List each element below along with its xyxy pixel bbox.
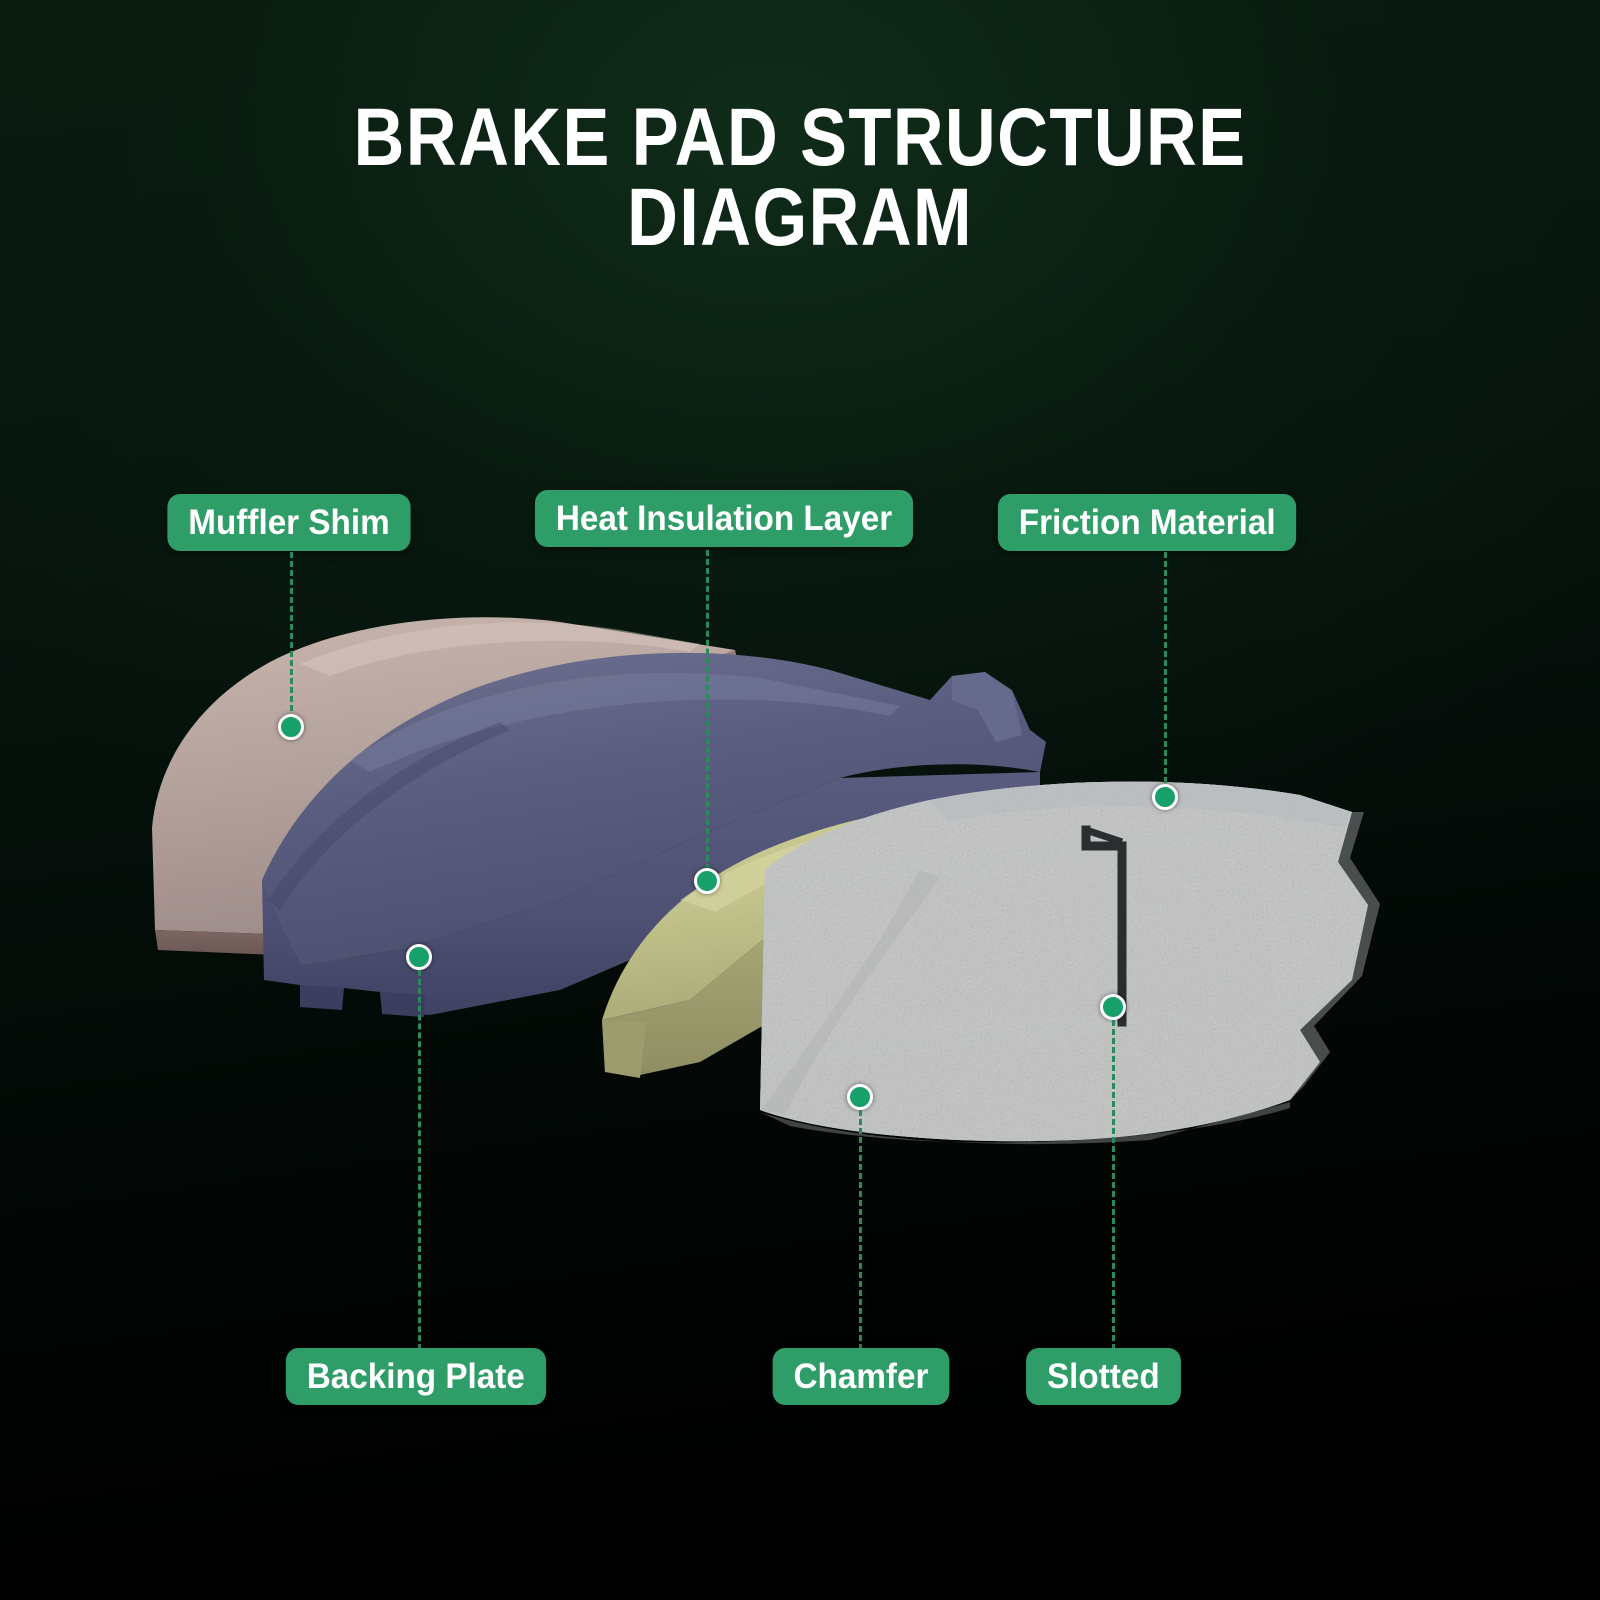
callout-label-muffler-shim[interactable]: Muffler Shim [167, 494, 410, 551]
page-title-line-1: BRAKE PAD STRUCTURE [112, 98, 1488, 178]
callout-dot-backing-plate[interactable] [406, 944, 432, 970]
callout-dot-chamfer[interactable] [847, 1084, 873, 1110]
layer-friction-material [740, 780, 1400, 1160]
callout-label-chamfer[interactable]: Chamfer [773, 1348, 950, 1405]
layer-heat-insulation [602, 798, 1152, 1078]
leader-line-slotted [1112, 1020, 1115, 1350]
callout-dot-slotted[interactable] [1100, 994, 1126, 1020]
page-title: BRAKE PAD STRUCTURE DIAGRAM [0, 98, 1600, 258]
leader-line-backing-plate [418, 970, 421, 1350]
callout-dot-friction-material[interactable] [1152, 784, 1178, 810]
layer-muffler-shim [152, 617, 742, 988]
leader-line-chamfer [859, 1110, 862, 1350]
callout-label-slotted[interactable]: Slotted [1026, 1348, 1180, 1405]
page-title-line-2: DIAGRAM [112, 178, 1488, 258]
leader-line-heat-insulation-layer [706, 550, 709, 870]
callout-label-friction-material[interactable]: Friction Material [998, 494, 1297, 551]
callout-label-heat-insulation-layer[interactable]: Heat Insulation Layer [535, 490, 913, 547]
leader-line-muffler-shim [290, 552, 293, 720]
layer-backing-plate [262, 653, 1046, 1017]
callout-dot-heat-insulation-layer[interactable] [694, 868, 720, 894]
callout-label-backing-plate[interactable]: Backing Plate [286, 1348, 546, 1405]
brake-pad-diagram-page: BRAKE PAD STRUCTURE DIAGRAM [0, 0, 1600, 1600]
callout-dot-muffler-shim[interactable] [278, 714, 304, 740]
leader-line-friction-material [1164, 552, 1167, 810]
